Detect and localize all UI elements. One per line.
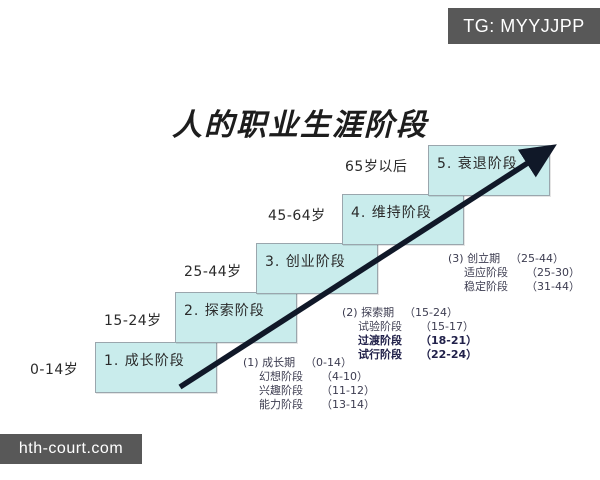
page-title: 人的职业生涯阶段	[0, 100, 600, 144]
annotation-block-2: (2) 探索期（15-24） 试验阶段（15-17） 过渡阶段（18-21） 试…	[342, 306, 477, 362]
annotation-block-3: (3) 创立期（25-44） 适应阶段（25-30） 稳定阶段（31-44）	[448, 252, 580, 294]
age-label-5: 65岁以后	[345, 156, 407, 176]
annotation-row-range: （25-30）	[526, 266, 580, 280]
step-label-2: 2. 探索阶段	[184, 300, 265, 320]
step-label-4: 4. 维持阶段	[351, 202, 432, 222]
annotation-row: 幻想阶段（4-10）	[243, 370, 375, 384]
age-label-1: 0-14岁	[30, 359, 78, 379]
site-watermark-badge: hth-court.com	[0, 434, 142, 464]
annotation-row-name: 适应阶段	[448, 266, 526, 280]
annotation-heading-name-1: (1) 成长期	[243, 356, 305, 370]
step-box-5: 5. 衰退阶段	[428, 145, 550, 196]
annotation-block-1: (1) 成长期（0-14） 幻想阶段（4-10） 兴趣阶段（11-12） 能力阶…	[243, 356, 375, 412]
annotation-row: 稳定阶段（31-44）	[448, 280, 580, 294]
annotation-row-range: （22-24）	[420, 348, 477, 362]
annotation-row: 试行阶段（22-24）	[342, 348, 477, 362]
annotation-row-name: 兴趣阶段	[243, 384, 321, 398]
annotation-row: 试验阶段（15-17）	[342, 320, 477, 334]
annotation-row: 适应阶段（25-30）	[448, 266, 580, 280]
annotation-row-range: （15-17）	[420, 320, 474, 334]
step-label-5: 5. 衰退阶段	[437, 153, 518, 173]
annotation-row: 能力阶段（13-14）	[243, 398, 375, 412]
annotation-row: 过渡阶段（18-21）	[342, 334, 477, 348]
annotation-row-range: （18-21）	[420, 334, 477, 348]
annotation-heading-2: (2) 探索期（15-24）	[342, 306, 477, 320]
annotation-row-range: （13-14）	[321, 398, 375, 412]
step-box-2: 2. 探索阶段	[175, 292, 297, 343]
annotation-heading-range-2: （15-24）	[404, 306, 458, 320]
annotation-heading-3: (3) 创立期（25-44）	[448, 252, 580, 266]
annotation-row-name: 过渡阶段	[342, 334, 420, 348]
annotation-row-name: 稳定阶段	[448, 280, 526, 294]
step-label-3: 3. 创业阶段	[265, 251, 346, 271]
age-label-2: 15-24岁	[104, 310, 162, 330]
telegram-watermark-badge: TG: MYYJJPP	[448, 8, 600, 44]
annotation-row-range: （4-10）	[321, 370, 368, 384]
career-stage-diagram: 人的职业生涯阶段 1. 成长阶段 2. 探索阶段 3. 创业阶段 4. 维持阶段…	[0, 0, 600, 480]
annotation-row-name: 能力阶段	[243, 398, 321, 412]
annotation-heading-range-3: （25-44）	[510, 252, 564, 266]
annotation-row-name: 试验阶段	[342, 320, 420, 334]
annotation-heading-name-2: (2) 探索期	[342, 306, 404, 320]
annotation-row-range: （31-44）	[526, 280, 580, 294]
step-label-1: 1. 成长阶段	[104, 350, 185, 370]
step-box-3: 3. 创业阶段	[256, 243, 378, 294]
annotation-row-range: （11-12）	[321, 384, 375, 398]
annotation-row-name: 试行阶段	[342, 348, 420, 362]
age-label-3: 25-44岁	[184, 261, 242, 281]
step-box-1: 1. 成长阶段	[95, 342, 217, 393]
age-label-4: 45-64岁	[268, 205, 326, 225]
annotation-row: 兴趣阶段（11-12）	[243, 384, 375, 398]
step-box-4: 4. 维持阶段	[342, 194, 464, 245]
annotation-row-name: 幻想阶段	[243, 370, 321, 384]
annotation-heading-name-3: (3) 创立期	[448, 252, 510, 266]
